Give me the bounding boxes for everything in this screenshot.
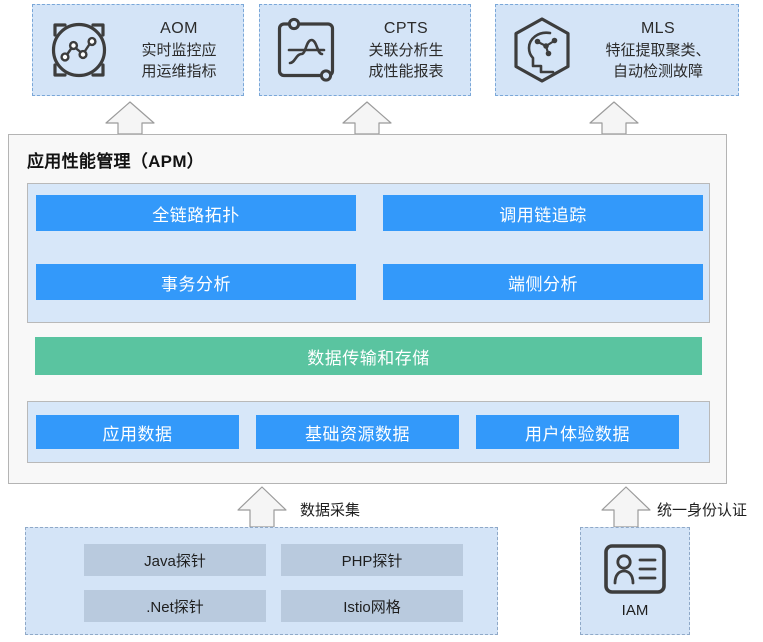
- service-abbr: AOM: [160, 18, 198, 40]
- service-card-cpts[interactable]: CPTS 关联分析生 成性能报表: [259, 4, 471, 96]
- apm-data-types-panel: 应用数据 基础资源数据 用户体验数据: [27, 401, 710, 463]
- service-desc: 实时监控应 用运维指标: [141, 40, 216, 82]
- arrow-apm-to-cpts: [341, 101, 393, 135]
- service-card-text: AOM 实时监控应 用运维指标: [121, 18, 243, 82]
- feature-button-topology[interactable]: 全链路拓扑: [36, 195, 356, 231]
- arrow-iam-to-apm: [600, 486, 652, 528]
- performance-report-icon: [264, 8, 348, 92]
- feature-button-client-analysis[interactable]: 端侧分析: [383, 264, 703, 300]
- arrow-probes-to-apm: [236, 486, 288, 528]
- service-card-text: CPTS 关联分析生 成性能报表: [348, 18, 470, 82]
- arrow-apm-to-aom: [104, 101, 156, 135]
- data-type-button-user-experience[interactable]: 用户体验数据: [476, 415, 679, 449]
- feature-button-transaction-analysis[interactable]: 事务分析: [36, 264, 356, 300]
- id-card-icon: [603, 543, 667, 600]
- probe-box-istio[interactable]: Istio网格: [281, 590, 463, 622]
- edge-label-data-collection: 数据采集: [300, 499, 360, 520]
- data-transport-storage-bar: 数据传输和存储: [35, 337, 702, 375]
- data-type-button-infrastructure[interactable]: 基础资源数据: [256, 415, 459, 449]
- service-abbr: CPTS: [384, 18, 428, 40]
- service-desc: 特征提取聚类、 自动检测故障: [605, 40, 710, 82]
- identity-panel-iam[interactable]: IAM: [580, 527, 690, 635]
- data-collection-panel: Java探针 PHP探针 .Net探针 Istio网格: [25, 527, 498, 635]
- page-title: 应用性能管理（APM）: [27, 147, 204, 172]
- feature-button-tracing[interactable]: 调用链追踪: [383, 195, 703, 231]
- apm-features-panel: 全链路拓扑 调用链追踪 事务分析 端侧分析: [27, 183, 710, 323]
- service-card-text: MLS 特征提取聚类、 自动检测故障: [584, 18, 738, 82]
- edge-label-unified-identity: 统一身份认证: [657, 499, 747, 520]
- probe-box-php[interactable]: PHP探针: [281, 544, 463, 576]
- service-desc: 关联分析生 成性能报表: [368, 40, 443, 82]
- data-type-button-application[interactable]: 应用数据: [36, 415, 239, 449]
- arrow-apm-to-mls: [588, 101, 640, 135]
- service-abbr: MLS: [641, 18, 675, 40]
- iam-label: IAM: [622, 602, 649, 619]
- probe-box-dotnet[interactable]: .Net探针: [84, 590, 266, 622]
- apm-container: 应用性能管理（APM） 全链路拓扑 调用链追踪 事务分析 端侧分析 数据传输和存…: [8, 134, 727, 484]
- machine-learning-head-icon: [500, 8, 584, 92]
- probe-box-java[interactable]: Java探针: [84, 544, 266, 576]
- metrics-scan-icon: [37, 8, 121, 92]
- service-card-mls[interactable]: MLS 特征提取聚类、 自动检测故障: [495, 4, 739, 96]
- service-card-aom[interactable]: AOM 实时监控应 用运维指标: [32, 4, 244, 96]
